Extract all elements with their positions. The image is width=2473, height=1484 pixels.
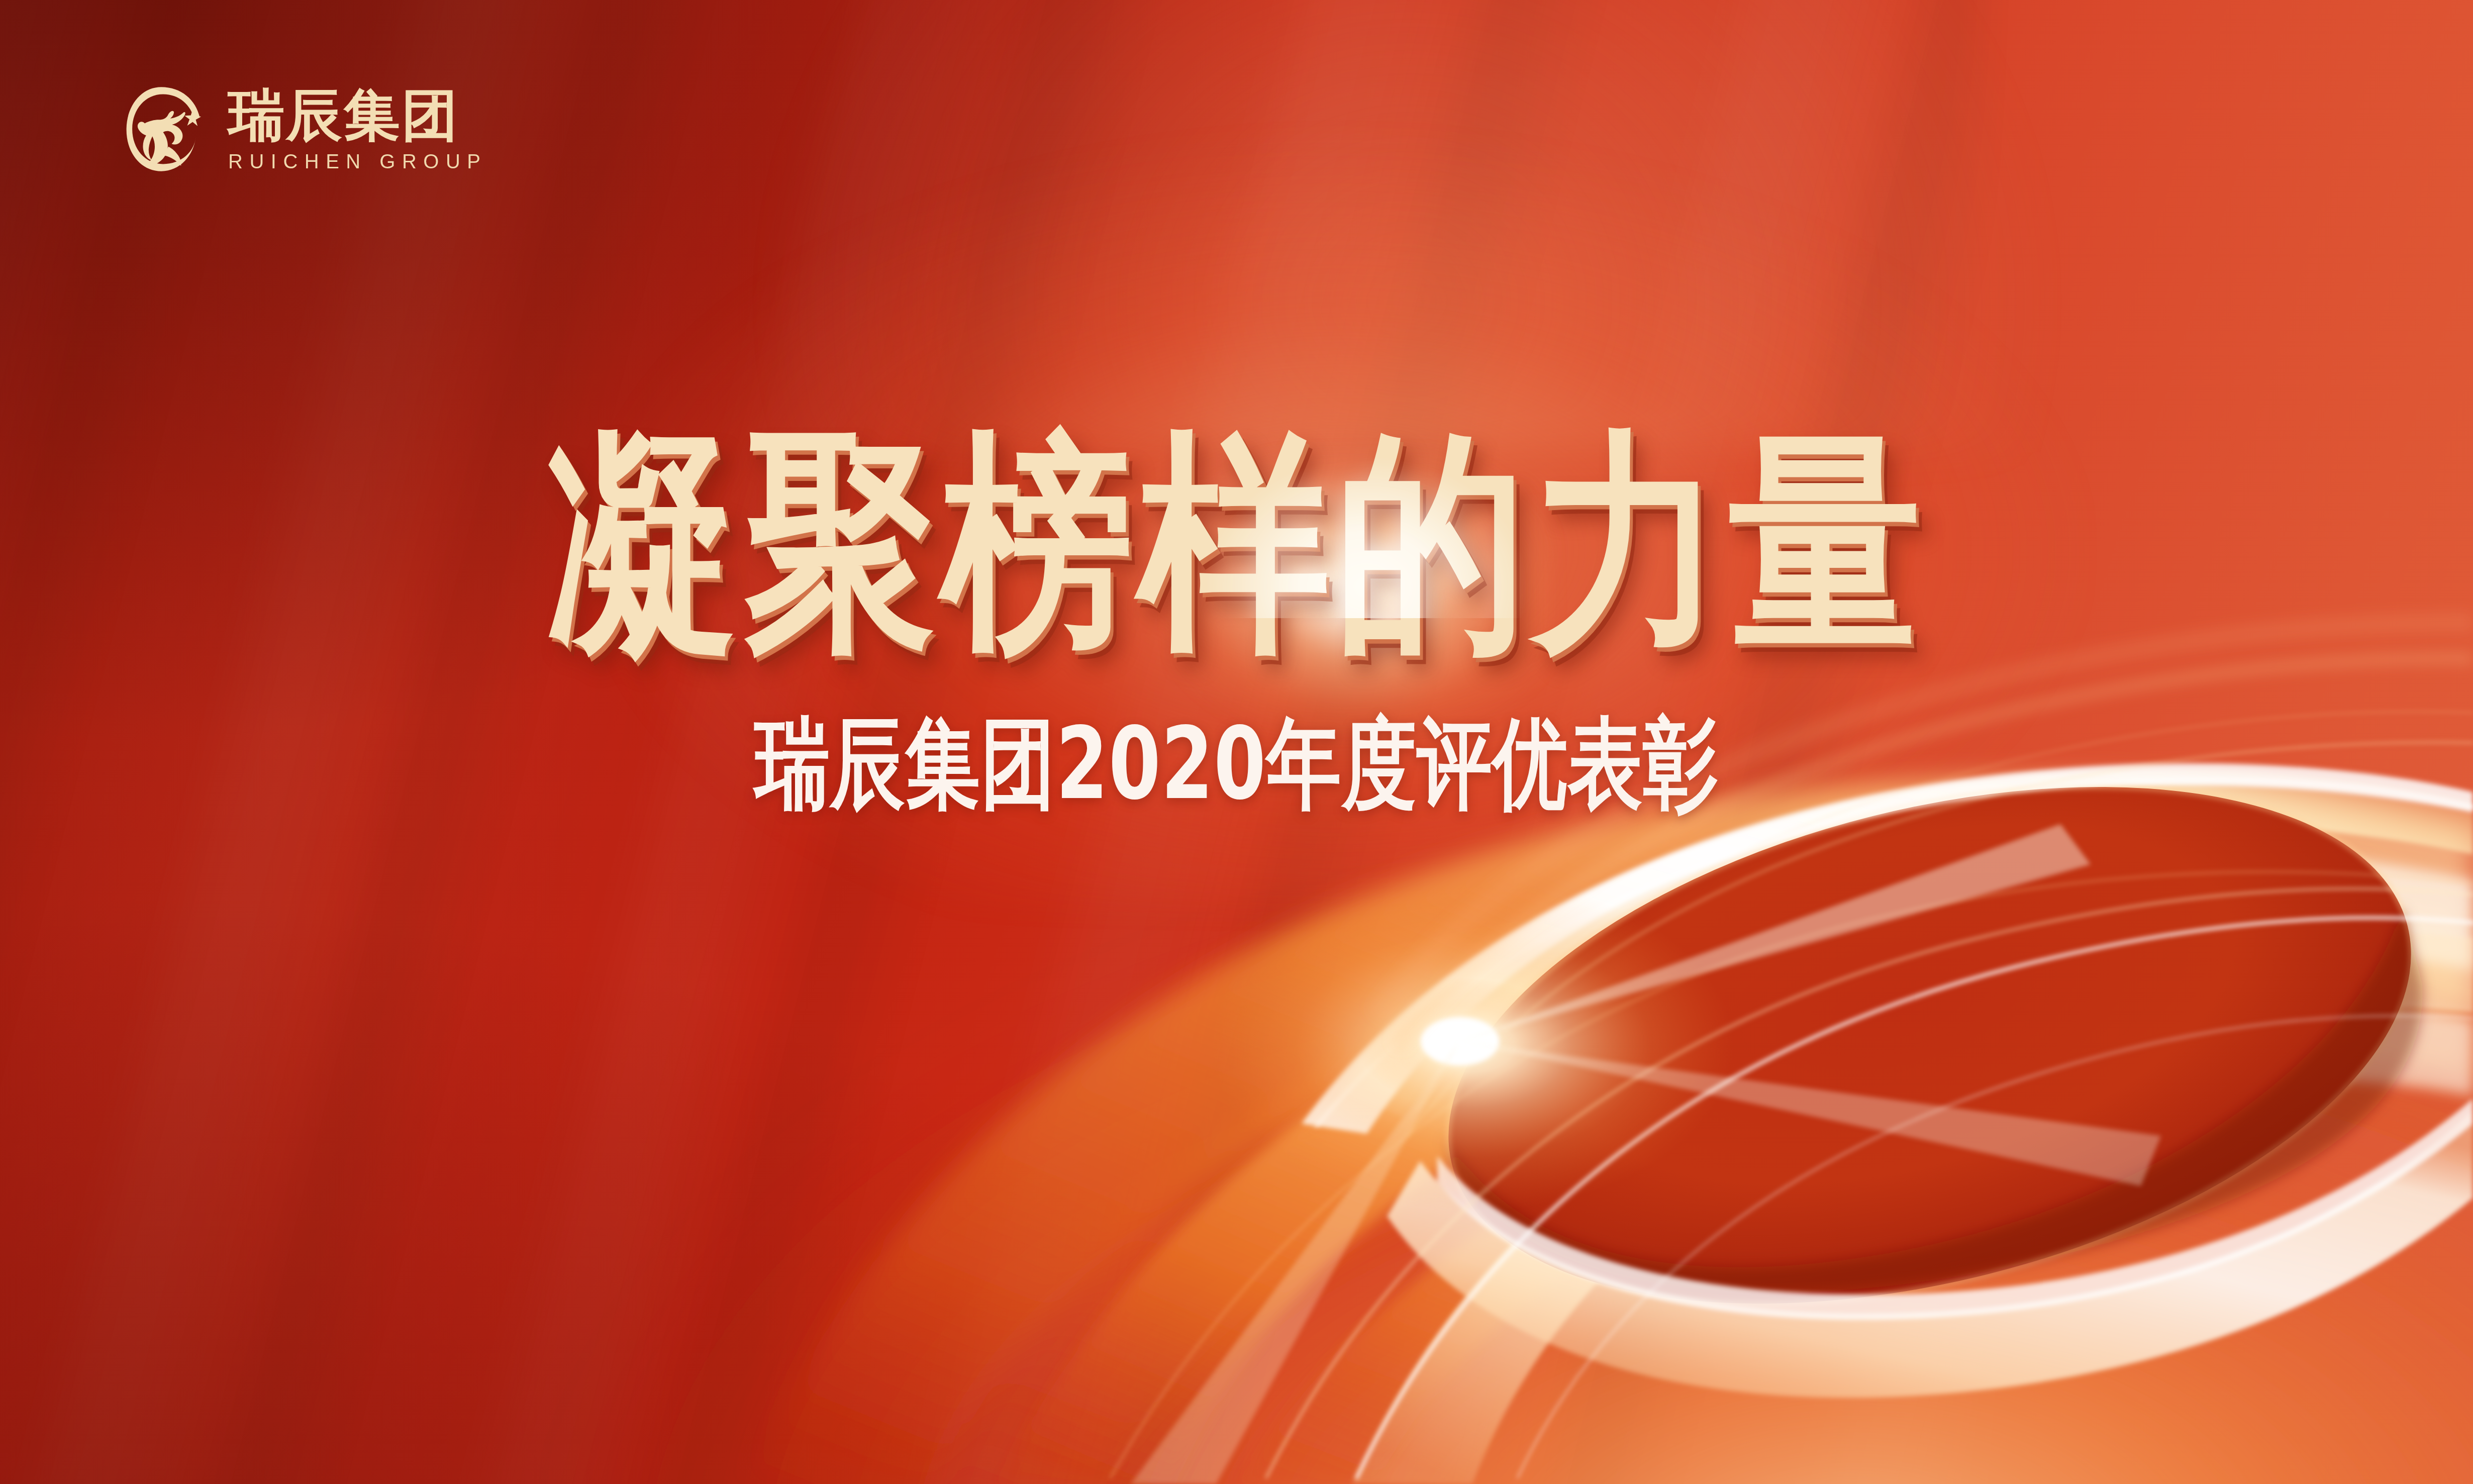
ruichen-deer-r-emblem-icon	[117, 84, 206, 174]
brand-wordmark: 瑞辰集团 RUICHEN GROUP	[228, 87, 487, 171]
brand-name-en: RUICHEN GROUP	[228, 151, 487, 171]
banner-canvas: 瑞辰集团 RUICHEN GROUP 凝聚榜样的力量 凝聚榜样的力量 瑞辰集团2…	[0, 0, 2473, 1484]
glowing-ribbon-swirl	[0, 0, 2473, 1484]
brand-logo: 瑞辰集团 RUICHEN GROUP	[117, 84, 487, 174]
brand-name-cn: 瑞辰集团	[228, 87, 487, 143]
headline-light-flare	[1171, 452, 1553, 734]
